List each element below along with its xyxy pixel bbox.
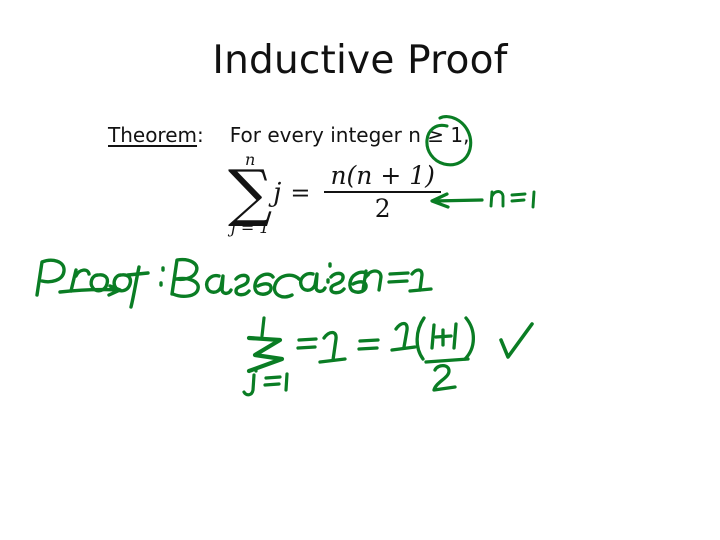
ink-work-sigma-icon <box>249 338 282 371</box>
ink-proof-label-text: Proof: <box>0 0 1 1</box>
ink-arrow-note <box>491 192 534 208</box>
formula-equals-sign: = <box>290 179 310 207</box>
ink-proof-label <box>37 260 163 307</box>
theorem-statement-text: For every integer n ≥ 1, <box>230 123 470 147</box>
theorem-colon: : <box>197 123 204 147</box>
slide-canvas: Inductive Proof Theorem:For every intege… <box>0 0 720 540</box>
ink-work-sum-upper <box>262 318 264 336</box>
fraction-numerator: n(n + 1) <box>324 161 440 191</box>
ink-work-equals-two <box>359 340 378 349</box>
ink-base-case-value <box>363 270 431 291</box>
fraction-denominator: 2 <box>375 193 391 226</box>
summation-lower-limit: j = 1 <box>231 220 270 236</box>
summand-variable: j <box>273 178 281 208</box>
theorem-label: Theorem <box>108 123 197 147</box>
summation-operator: n ∑ j = 1 <box>228 152 272 235</box>
page-title: Inductive Proof <box>0 40 720 83</box>
formula-fraction: n(n + 1) 2 <box>324 161 440 225</box>
printed-formula: n ∑ j = 1 j = n(n + 1) 2 <box>228 150 441 238</box>
ink-work-sum-lower <box>244 369 287 395</box>
ink-text-equivalents: Proof: Base Case: n = 1 n = 1 ∑ (j=1 to … <box>0 0 1 1</box>
ink-work-equals-one <box>298 333 345 363</box>
ink-base-case-label <box>172 260 368 297</box>
theorem-statement-line: Theorem:For every integer n ≥ 1, <box>108 124 469 147</box>
sigma-icon: ∑ <box>228 169 272 217</box>
ink-work-fraction <box>392 318 473 390</box>
check-icon <box>501 324 532 357</box>
